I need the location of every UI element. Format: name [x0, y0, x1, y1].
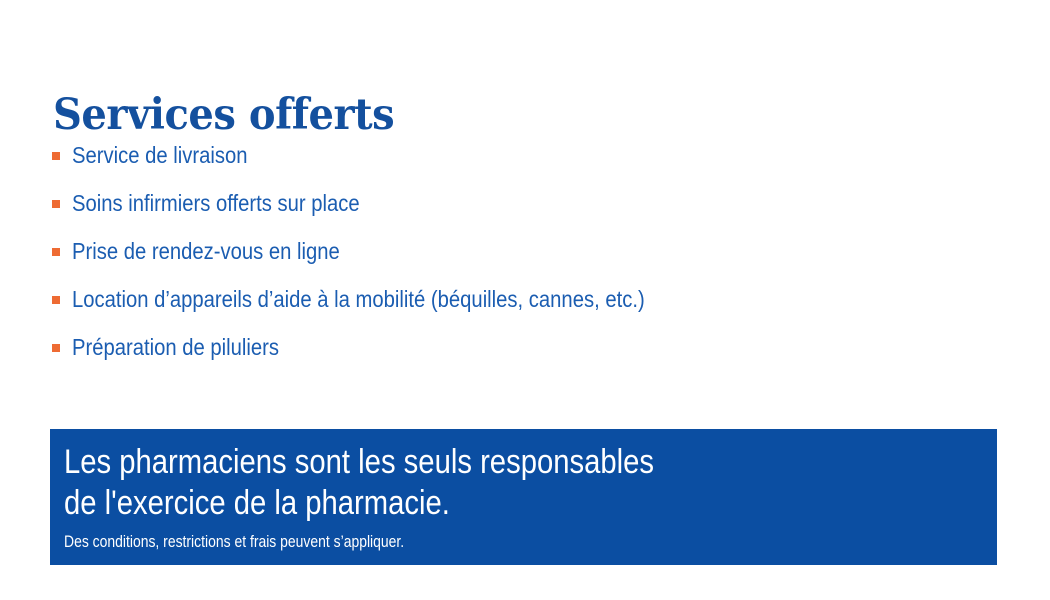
- slide-canvas: Services offerts Service de livraison So…: [0, 0, 1050, 600]
- list-item[interactable]: Soins infirmiers offerts sur place: [52, 188, 992, 236]
- page-title: Services offerts: [53, 90, 394, 140]
- square-bullet-icon: [52, 200, 60, 208]
- square-bullet-icon: [52, 296, 60, 304]
- square-bullet-icon: [52, 248, 60, 256]
- disclaimer-banner: Les pharmaciens sont les seuls responsab…: [50, 429, 997, 565]
- list-item-label: Soins infirmiers offerts sur place: [72, 188, 882, 218]
- square-bullet-icon: [52, 152, 60, 160]
- list-item-label: Location d’appareils d’aide à la mobilit…: [72, 284, 882, 314]
- banner-headline-line-2: de l'exercice de la pharmacie.: [64, 483, 866, 524]
- list-item[interactable]: Location d’appareils d’aide à la mobilit…: [52, 284, 992, 332]
- services-bullet-list: Service de livraison Soins infirmiers of…: [52, 140, 992, 380]
- banner-headline-line-1: Les pharmaciens sont les seuls responsab…: [64, 442, 866, 483]
- square-bullet-icon: [52, 344, 60, 352]
- list-item[interactable]: Service de livraison: [52, 140, 992, 188]
- list-item-label: Préparation de piluliers: [72, 332, 882, 362]
- list-item[interactable]: Préparation de piluliers: [52, 332, 992, 380]
- list-item-label: Prise de rendez-vous en ligne: [72, 236, 882, 266]
- banner-caption: Des conditions, restrictions et frais pe…: [64, 531, 829, 553]
- list-item-label: Service de livraison: [72, 140, 882, 170]
- list-item[interactable]: Prise de rendez-vous en ligne: [52, 236, 992, 284]
